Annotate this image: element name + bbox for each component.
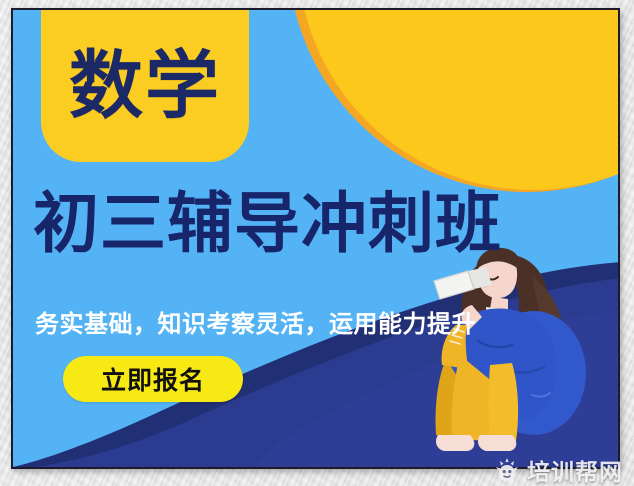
enroll-now-button[interactable]: 立即报名: [63, 356, 243, 402]
screenshot-canvas: 数学 初三辅导冲刺班 务实基础，知识考察灵活，运用能力提升 立即报名: [0, 0, 634, 486]
watermark: 培训帮网: [494, 453, 623, 486]
girl-illustration-icon: [382, 237, 612, 467]
course-poster: 数学 初三辅导冲刺班 务实基础，知识考察灵活，运用能力提升 立即报名: [11, 8, 620, 469]
poster-headline: 初三辅导冲刺班: [33, 188, 502, 259]
seated-girl-reading-illustration: [382, 237, 612, 467]
smiling-sun-face-icon: [494, 457, 520, 483]
subject-tag-label: 数学: [69, 49, 221, 123]
enroll-now-button-label: 立即报名: [101, 361, 205, 397]
subject-tag: 数学: [41, 8, 249, 162]
corner-arc-yellow-icon: [298, 8, 620, 190]
poster-subtitle: 务实基础，知识考察灵活，运用能力提升: [35, 304, 476, 339]
watermark-text: 培训帮网: [527, 453, 623, 486]
